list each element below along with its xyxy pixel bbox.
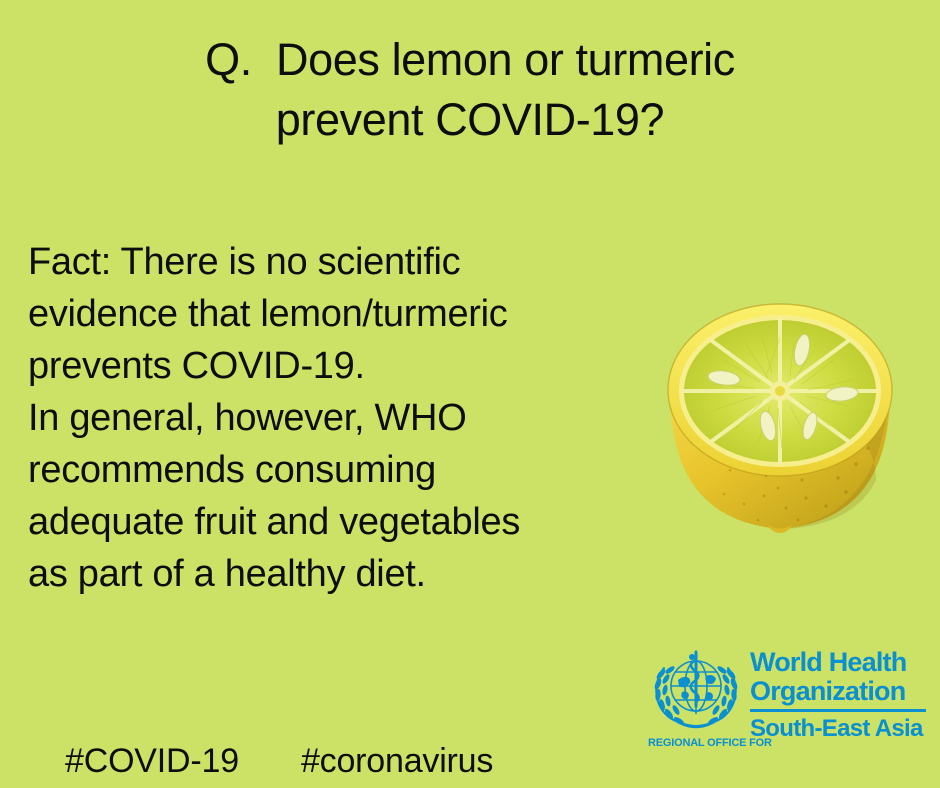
body-line-4: In general, however, WHO [28, 392, 628, 444]
body-line-7: as part of a healthy diet. [28, 548, 628, 600]
who-wordmark: World Health Organization South-East Asi… [750, 648, 926, 743]
who-region-name: South-East Asia [750, 715, 926, 743]
who-divider [750, 709, 926, 712]
who-emblem-icon [648, 648, 744, 734]
body-text: Fact: There is no scientific evidence th… [28, 236, 628, 600]
hashtag-covid19: #COVID-19 [65, 740, 239, 782]
lemon-icon [662, 298, 898, 538]
poster-canvas: Q. Does lemon or turmeric prevent COVID-… [0, 0, 940, 788]
who-name-line-2: Organization [750, 677, 926, 706]
hashtag-row: #COVID-19#coronavirus [28, 698, 493, 788]
title-line-2: prevent COVID-19? [0, 90, 940, 150]
page-title: Q. Does lemon or turmeric prevent COVID-… [0, 30, 940, 150]
body-line-2: evidence that lemon/turmeric [28, 288, 628, 340]
who-regional-label: REGIONAL OFFICE FOR [648, 736, 748, 750]
body-line-3: prevents COVID-19. [28, 340, 628, 392]
hashtag-coronavirus: #coronavirus [301, 740, 493, 782]
body-line-1: Fact: There is no scientific [28, 236, 628, 288]
who-name-line-1: World Health [750, 648, 926, 677]
title-line-1: Q. Does lemon or turmeric [0, 30, 940, 90]
body-line-5: recommends consuming [28, 444, 628, 496]
body-line-6: adequate fruit and vegetables [28, 496, 628, 548]
who-logo: REGIONAL OFFICE FOR World Health Organiz… [648, 648, 926, 760]
half-lemon-illustration [662, 298, 898, 538]
